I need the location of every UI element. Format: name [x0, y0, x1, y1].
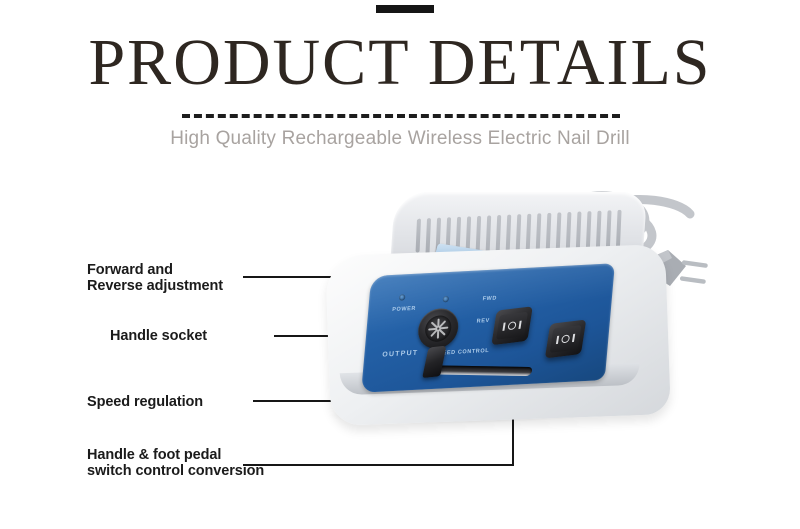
callout-label-handle-foot-pedal: Handle & foot pedal switch control conve… [87, 447, 264, 479]
rocker-bar-glyph-icon [572, 334, 575, 342]
speed-slider-track[interactable] [435, 365, 533, 376]
callout-label-handle-socket: Handle socket [110, 328, 207, 344]
page-subtitle: High Quality Rechargeable Wireless Elect… [0, 126, 800, 152]
panel-label-reverse: REV [476, 318, 490, 325]
handle-foot-pedal-rocker-switch[interactable] [545, 319, 586, 358]
page-title: PRODUCT DETAILS [0, 28, 800, 98]
forward-reverse-rocker-switch[interactable] [491, 306, 532, 345]
header-top-rule [376, 5, 434, 13]
rocker-face-left [496, 312, 528, 340]
panel-label-forward: FWD [482, 295, 497, 302]
panel-label-power: POWER [392, 306, 416, 313]
rocker-bar-glyph-icon [503, 323, 506, 331]
panel-label-output: OUTPUT [382, 350, 419, 359]
leader-line-foot-pedal-horizontal [243, 464, 514, 466]
rocker-circle-glyph-icon [507, 321, 516, 330]
header-dashed-divider [182, 114, 620, 118]
callout-label-speed-regulation: Speed regulation [87, 394, 203, 410]
callout-label-forward-reverse: Forward and Reverse adjustment [87, 262, 223, 294]
control-panel: POWER OUTPUT SPEED CONTROL FWD REV OFF F… [361, 263, 615, 392]
product-image-nail-drill-control-box: —·—·—·— POWER POWER OUTPUT SPEED CONTROL… [318, 192, 698, 442]
rocker-bar-glyph-icon [556, 336, 559, 344]
rocker-face-right [550, 325, 582, 353]
rocker-circle-glyph-icon [561, 334, 570, 343]
socket-inner-ring [425, 314, 452, 343]
rocker-bar-glyph-icon [518, 321, 521, 329]
product-details-banner: PRODUCT DETAILS High Quality Rechargeabl… [0, 0, 800, 529]
